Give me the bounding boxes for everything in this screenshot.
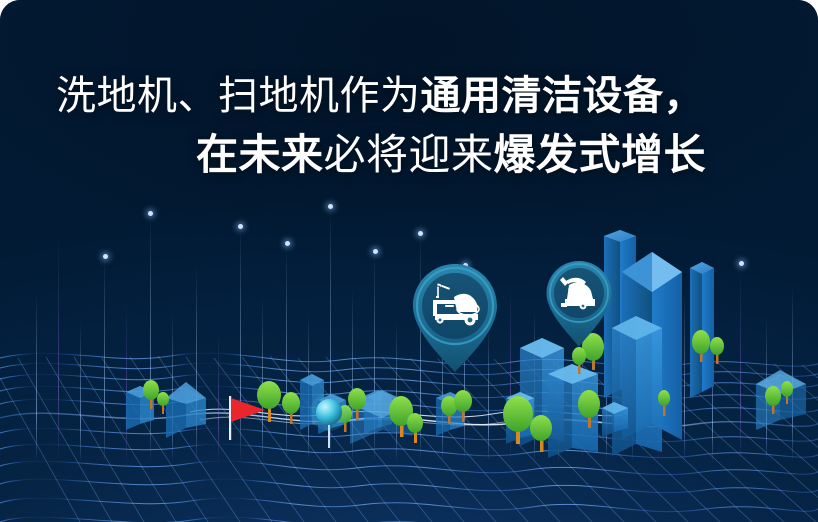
sweeper-pin[interactable]: 扫地机 — [541, 259, 617, 349]
promo-banner: 洗地机 — [0, 0, 818, 522]
map-pin-group: 洗地机 — [0, 0, 818, 522]
scrubber-pin[interactable]: 洗地机 — [406, 262, 504, 374]
